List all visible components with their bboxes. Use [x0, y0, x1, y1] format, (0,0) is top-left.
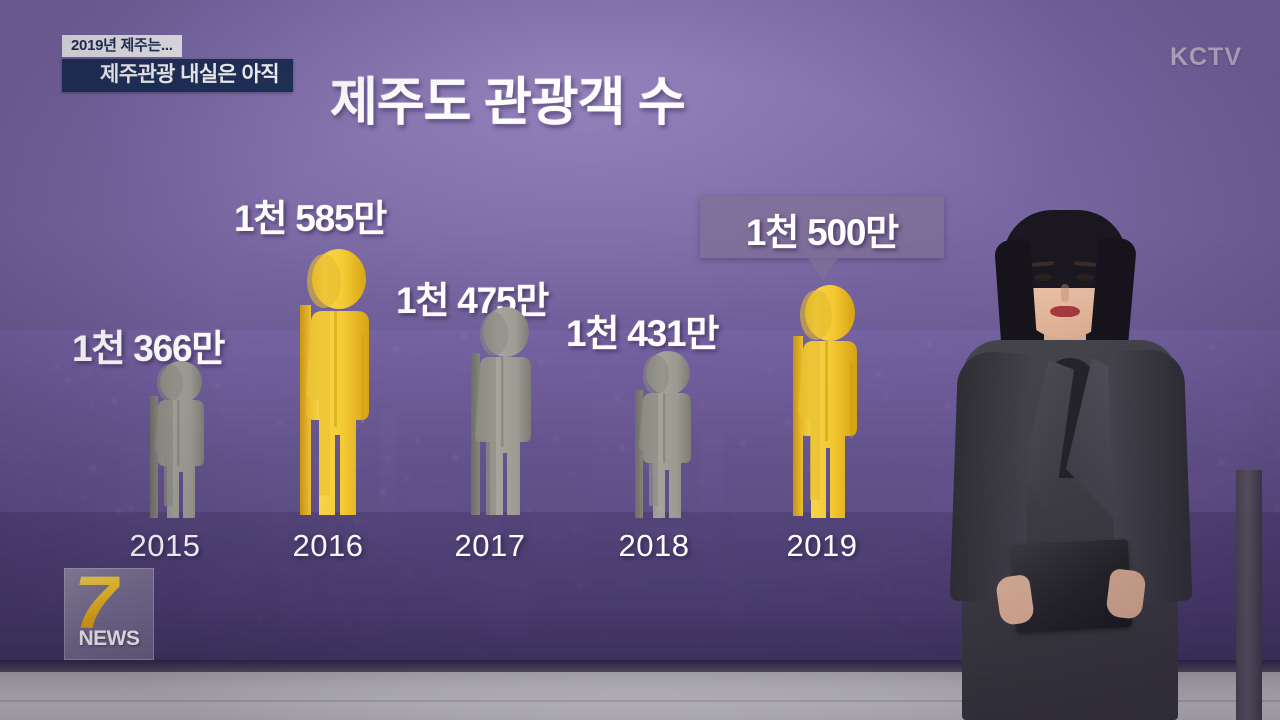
- anchor-nose: [1061, 284, 1069, 302]
- year-label-2015: 2015: [95, 528, 235, 564]
- callout-pointer-icon: [808, 258, 838, 280]
- person-pictogram-icon-2016: [284, 243, 388, 518]
- news-anchor: [940, 200, 1200, 720]
- kctv-watermark: KCTV: [1170, 43, 1242, 72]
- tourist-count-chart: 제주도 관광객 수 1천 366만: [0, 0, 1010, 600]
- anchor-lips: [1050, 306, 1080, 317]
- year-label-2017: 2017: [420, 528, 560, 564]
- person-pictogram-icon-2017: [456, 305, 552, 517]
- chart-title: 제주도 관광객 수: [330, 60, 685, 135]
- anchor-eye-left: [1034, 274, 1052, 281]
- year-label-2016: 2016: [258, 528, 398, 564]
- value-label-2016: 1천 585만: [234, 188, 386, 242]
- value-label-2019: 1천 500만: [700, 202, 944, 256]
- anchor-eye-right: [1076, 274, 1094, 281]
- seven-news-logo: 7 NEWS: [64, 568, 154, 660]
- anchor-hand-left: [995, 574, 1035, 626]
- year-label-2019: 2019: [752, 528, 892, 564]
- broadcast-screen: 2019년 제주는... 제주관광 내실은 아직 제주도 관광객 수 1천 36…: [0, 0, 1280, 720]
- person-pictogram-icon-2019: [778, 280, 876, 518]
- studio-wall-post: [1236, 470, 1262, 720]
- callout-bubble-2019: 1천 500만: [700, 196, 944, 258]
- person-pictogram-icon-2015: [136, 360, 222, 520]
- seven-news-word: NEWS: [64, 627, 154, 651]
- value-label-2018: 1천 431만: [566, 303, 718, 357]
- person-pictogram-icon-2018: [620, 350, 712, 520]
- year-label-2018: 2018: [584, 528, 724, 564]
